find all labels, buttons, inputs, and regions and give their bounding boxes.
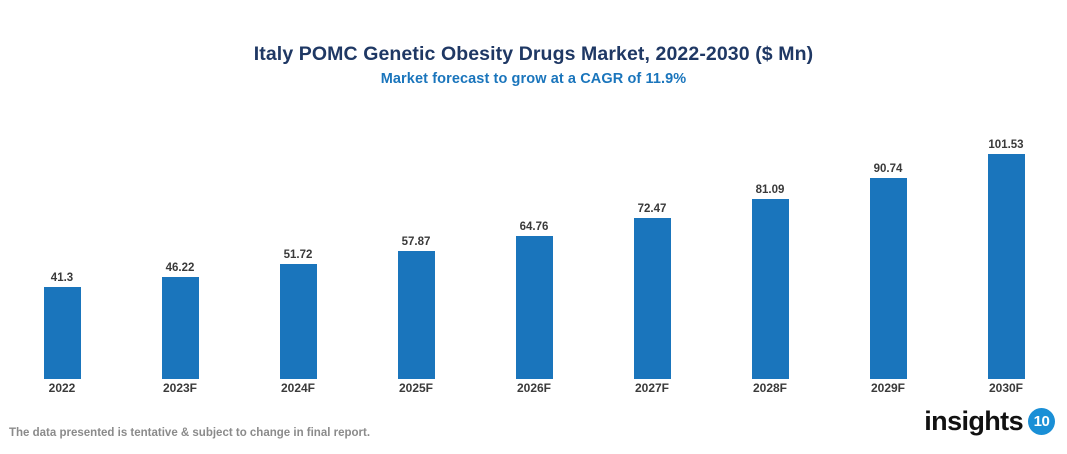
bar-slot: 41.3 [3, 100, 121, 379]
bar[interactable] [398, 251, 435, 379]
bar-value-label: 57.87 [357, 236, 475, 248]
bar-value-label: 41.3 [3, 272, 121, 284]
bar[interactable] [870, 178, 907, 379]
bar[interactable] [988, 154, 1025, 379]
bar-value-label: 51.72 [239, 249, 357, 261]
bar-slot: 90.74 [829, 100, 947, 379]
x-axis-label: 2027F [593, 381, 711, 395]
x-axis-label: 2022 [3, 381, 121, 395]
x-axis-label: 2024F [239, 381, 357, 395]
brand-name: insights [924, 408, 1023, 435]
bar-slot: 64.76 [475, 100, 593, 379]
bar-value-label: 64.76 [475, 221, 593, 233]
bar-slot: 72.47 [593, 100, 711, 379]
bar-value-label: 81.09 [711, 184, 829, 196]
bar[interactable] [162, 277, 199, 379]
bar-value-label: 101.53 [947, 139, 1065, 151]
bar-slot: 81.09 [711, 100, 829, 379]
plot-area: 41.346.2251.7257.8764.7672.4781.0990.741… [0, 100, 1067, 379]
x-axis-label: 2023F [121, 381, 239, 395]
bar-slot: 51.72 [239, 100, 357, 379]
disclaimer-text: The data presented is tentative & subjec… [9, 427, 370, 439]
x-axis-labels: 20222023F2024F2025F2026F2027F2028F2029F2… [0, 381, 1067, 403]
bar[interactable] [752, 199, 789, 379]
x-axis-label: 2025F [357, 381, 475, 395]
insights10-logo: insights 10 [924, 408, 1055, 435]
chart-subtitle: Market forecast to grow at a CAGR of 11.… [0, 71, 1067, 87]
bar-slot: 101.53 [947, 100, 1065, 379]
x-axis-label: 2029F [829, 381, 947, 395]
bar[interactable] [516, 236, 553, 380]
x-axis-label: 2028F [711, 381, 829, 395]
x-axis-label: 2026F [475, 381, 593, 395]
bar-slot: 57.87 [357, 100, 475, 379]
bar[interactable] [44, 287, 81, 379]
brand-badge-icon: 10 [1028, 408, 1055, 435]
chart-page: Italy POMC Genetic Obesity Drugs Market,… [0, 0, 1067, 454]
chart-title: Italy POMC Genetic Obesity Drugs Market,… [0, 43, 1067, 66]
bar-slot: 46.22 [121, 100, 239, 379]
x-axis-label: 2030F [947, 381, 1065, 395]
bar-value-label: 90.74 [829, 163, 947, 175]
bar-value-label: 72.47 [593, 203, 711, 215]
bar-value-label: 46.22 [121, 262, 239, 274]
bar[interactable] [634, 218, 671, 379]
bar[interactable] [280, 264, 317, 379]
